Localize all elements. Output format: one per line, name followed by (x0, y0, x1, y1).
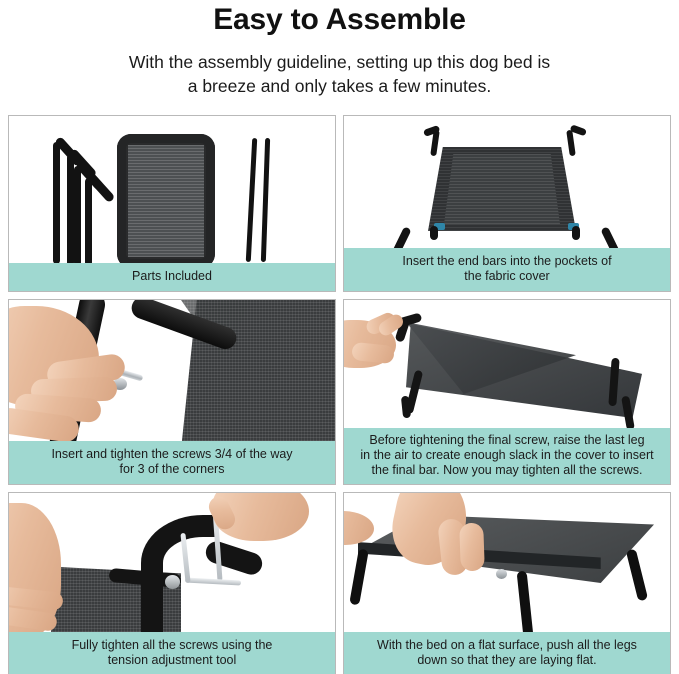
caption-raise-last-leg: Before tightening the final screw, raise… (344, 428, 670, 484)
mesh-fabric-cover (117, 134, 215, 268)
caption-line: down so that they are laying flat. (352, 653, 662, 668)
caption-line: Before tightening the final screw, raise… (350, 433, 664, 448)
caption-insert-tighten-screws: Insert and tighten the screws 3/4 of the… (9, 441, 335, 484)
caption-line: Insert the end bars into the pockets of (352, 254, 662, 269)
page-subtitle: With the assembly guideline, setting up … (0, 50, 679, 98)
assembly-instructions-page: Easy to Assemble With the assembly guide… (0, 0, 679, 674)
panel-insert-end-bars: Insert the end bars into the pockets of … (343, 115, 671, 292)
panel-insert-tighten-screws: Insert and tighten the screws 3/4 of the… (8, 299, 336, 485)
caption-line: the fabric cover (352, 269, 662, 284)
subtitle-line-1: With the assembly guideline, setting up … (0, 50, 679, 74)
caption-line: Insert and tighten the screws 3/4 of the… (17, 447, 327, 462)
caption-insert-end-bars: Insert the end bars into the pockets of … (344, 248, 670, 291)
caption-line: for 3 of the corners (17, 462, 327, 477)
subtitle-line-2: a breeze and only takes a few minutes. (0, 74, 679, 98)
assembly-step-grid: Parts Included (8, 115, 671, 674)
panel-parts-included: Parts Included (8, 115, 336, 292)
caption-line: tension adjustment tool (17, 653, 327, 668)
panel-push-legs-flat: With the bed on a flat surface, push all… (343, 492, 671, 674)
caption-line: Parts Included (17, 269, 327, 284)
panel-fully-tighten-screws: Fully tighten all the screws using the t… (8, 492, 336, 674)
caption-parts-included: Parts Included (9, 263, 335, 291)
caption-line: Fully tighten all the screws using the (17, 638, 327, 653)
caption-push-legs-flat: With the bed on a flat surface, push all… (344, 632, 670, 674)
page-title: Easy to Assemble (0, 2, 679, 38)
panel-raise-last-leg: Before tightening the final screw, raise… (343, 299, 671, 485)
caption-line: the final bar. Now you may tighten all t… (350, 463, 664, 478)
caption-fully-tighten-screws: Fully tighten all the screws using the t… (9, 632, 335, 674)
caption-line: in the air to create enough slack in the… (350, 448, 664, 463)
header: Easy to Assemble With the assembly guide… (0, 0, 679, 98)
caption-line: With the bed on a flat surface, push all… (352, 638, 662, 653)
